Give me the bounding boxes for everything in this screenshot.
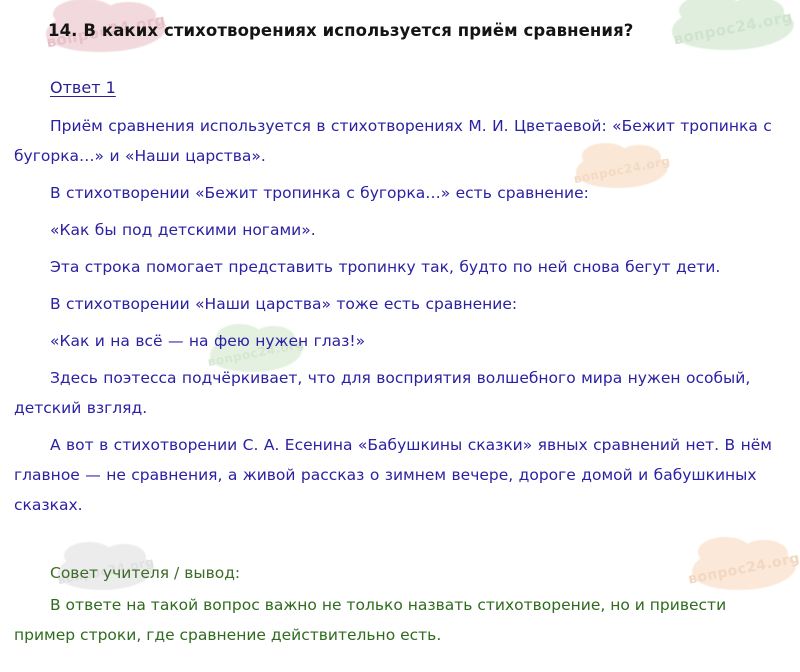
answer-paragraph: Здесь поэтесса подчёркивает, что для вос… bbox=[14, 363, 790, 423]
teacher-advice-text: В ответе на такой вопрос важно не только… bbox=[14, 590, 790, 650]
answer-section: Ответ 1 Приём сравнения используется в с… bbox=[14, 78, 790, 527]
answer-paragraph: Эта строка помогает представить тропинку… bbox=[14, 252, 790, 282]
answer-paragraph: А вот в стихотворении С. А. Есенина «Баб… bbox=[14, 430, 790, 520]
teacher-advice-section: Совет учителя / вывод: В ответе на такой… bbox=[14, 560, 790, 650]
answer-paragraph: В стихотворении «Бежит тропинка с бугорк… bbox=[14, 178, 790, 208]
answer-quote: «Как и на всё — на фею нужен глаз!» bbox=[14, 326, 790, 356]
answer-heading: Ответ 1 bbox=[50, 78, 116, 97]
answer-heading-row: Ответ 1 bbox=[14, 78, 790, 111]
answer-paragraph: В стихотворении «Наши царства» тоже есть… bbox=[14, 289, 790, 319]
teacher-advice-heading: Совет учителя / вывод: bbox=[50, 560, 790, 586]
answer-paragraph: Приём сравнения используется в стихотвор… bbox=[14, 111, 790, 171]
page-title: 14. В каких стихотворениях используется … bbox=[48, 20, 768, 42]
answer-quote: «Как бы под детскими ногами». bbox=[14, 215, 790, 245]
